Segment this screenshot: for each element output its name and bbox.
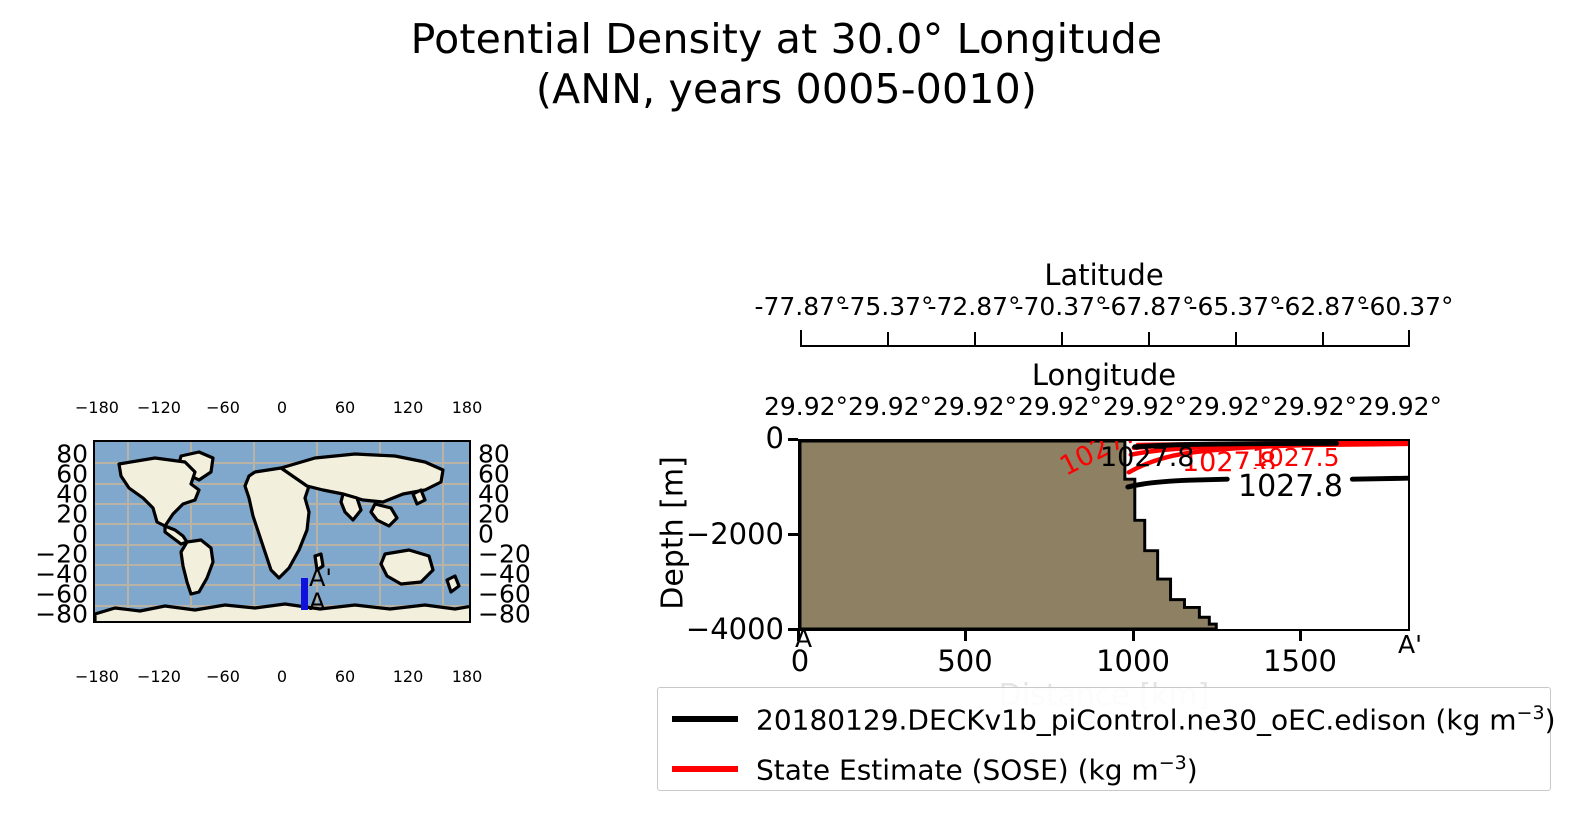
- lon-tick-label: 29.92°: [848, 392, 932, 421]
- legend-swatch-line-icon: [672, 766, 738, 772]
- map-xtick-label: 0: [277, 398, 287, 417]
- lat-tick-label: -70.37°: [1014, 292, 1107, 321]
- world-locator-map[interactable]: A' A: [93, 440, 471, 623]
- contour-label-sose: 1027.5: [1252, 443, 1339, 472]
- map-xtick-label: −120: [137, 667, 181, 686]
- x-tick-mark: [964, 631, 967, 641]
- lat-tick-label: -72.87°: [927, 292, 1020, 321]
- y-tick-mark: [788, 438, 798, 441]
- depth-axis-title: Depth [m]: [656, 456, 691, 610]
- latitude-axis-title: Latitude: [1044, 258, 1163, 292]
- lat-tick-label: -65.37°: [1188, 292, 1281, 321]
- lon-tick-label: 29.92°: [1103, 392, 1187, 421]
- distance-tick-label: 1000: [1096, 644, 1170, 678]
- lon-tick-label: 29.92°: [764, 392, 848, 421]
- legend-swatch-line-icon: [672, 716, 738, 722]
- lon-tick-label: 29.92°: [1358, 392, 1442, 421]
- map-xtick-label: 60: [335, 667, 355, 686]
- page-title: Potential Density at 30.0° Longitude (AN…: [0, 14, 1573, 114]
- lat-tick-label: -67.87°: [1101, 292, 1194, 321]
- lat-tick-label: -77.87°: [754, 292, 847, 321]
- continents: [95, 442, 471, 623]
- map-y-ticklabels-left: 80 60 40 20 0 −20 −40 −60 −80: [38, 440, 88, 623]
- title-line-1: Potential Density at 30.0° Longitude: [0, 14, 1573, 64]
- legend-label-model: 20180129.DECKv1b_piControl.ne30_oEC.edis…: [756, 702, 1556, 736]
- longitude-axis-title: Longitude: [1032, 358, 1176, 392]
- map-xtick-label: 0: [277, 667, 287, 686]
- legend-entry-sose[interactable]: State Estimate (SOSE) (kg m−3): [672, 752, 1198, 786]
- cross-section-plot[interactable]: 1027.6 1027.8 1027.5 1027.8 1027.8: [798, 439, 1410, 631]
- map-xtick-label: −60: [206, 667, 240, 686]
- transect-line-marker: [301, 578, 308, 610]
- map-x-ticklabels-top: −180 −120 −60 0 60 120 180: [93, 398, 471, 428]
- map-ytick-label: −80: [478, 600, 531, 629]
- section-start-label: A: [795, 624, 812, 653]
- map-xtick-label: −120: [137, 398, 181, 417]
- transect-start-label: A: [309, 590, 325, 614]
- latitude-ticklabels: -77.87° -75.37° -72.87° -70.37° -67.87° …: [798, 292, 1410, 322]
- section-end-label: A': [1398, 630, 1422, 659]
- depth-tick-label: 0: [766, 421, 784, 455]
- y-tick-mark: [788, 533, 798, 536]
- map-xtick-label: 180: [452, 667, 483, 686]
- map-xtick-label: −180: [75, 667, 119, 686]
- x-tick-mark: [1132, 631, 1135, 641]
- depth-ticklabels: 0 −2000 −4000: [700, 438, 784, 634]
- lon-tick-label: 29.92°: [1273, 392, 1357, 421]
- longitude-ticklabels: 29.92° 29.92° 29.92° 29.92° 29.92° 29.92…: [798, 392, 1410, 422]
- map-xtick-label: 60: [335, 398, 355, 417]
- map-xtick-label: −180: [75, 398, 119, 417]
- map-y-ticklabels-right: 80 60 40 20 0 −20 −40 −60 −80: [478, 440, 538, 623]
- lon-tick-label: 29.92°: [1188, 392, 1272, 421]
- contour-label-model: 1027.8: [1234, 469, 1347, 504]
- latitude-axis-spine: [800, 330, 1410, 348]
- lat-tick-label: -75.37°: [840, 292, 933, 321]
- lat-tick-label: -62.87°: [1275, 292, 1368, 321]
- map-x-ticklabels-bottom: −180 −120 −60 0 60 120 180: [93, 667, 471, 697]
- legend-entry-model[interactable]: 20180129.DECKv1b_piControl.ne30_oEC.edis…: [672, 702, 1556, 736]
- map-xtick-label: −60: [206, 398, 240, 417]
- map-xtick-label: 180: [452, 398, 483, 417]
- distance-ticklabels: 0 500 1000 1500: [798, 644, 1410, 680]
- lat-tick-label: -60.37°: [1360, 292, 1453, 321]
- title-line-2: (ANN, years 0005-0010): [0, 64, 1573, 114]
- map-ytick-label: −80: [35, 600, 88, 629]
- cross-section-axes-frame: 1027.6 1027.8 1027.5 1027.8 1027.8: [798, 439, 1410, 631]
- lon-tick-label: 29.92°: [933, 392, 1017, 421]
- map-xtick-label: 120: [393, 667, 424, 686]
- lon-tick-label: 29.92°: [1018, 392, 1102, 421]
- transect-end-label: A': [309, 566, 332, 590]
- x-tick-mark: [1299, 631, 1302, 641]
- depth-tick-label: −2000: [686, 517, 784, 551]
- map-frame: A' A: [93, 440, 471, 623]
- legend-label-sose: State Estimate (SOSE) (kg m−3): [756, 752, 1198, 786]
- legend-box[interactable]: 20180129.DECKv1b_piControl.ne30_oEC.edis…: [657, 687, 1551, 791]
- distance-tick-label: 1500: [1263, 644, 1337, 678]
- contour-label-model: 1027.8: [1100, 442, 1194, 473]
- distance-tick-label: 500: [937, 644, 992, 678]
- map-xtick-label: 120: [393, 398, 424, 417]
- depth-tick-label: −4000: [686, 612, 784, 646]
